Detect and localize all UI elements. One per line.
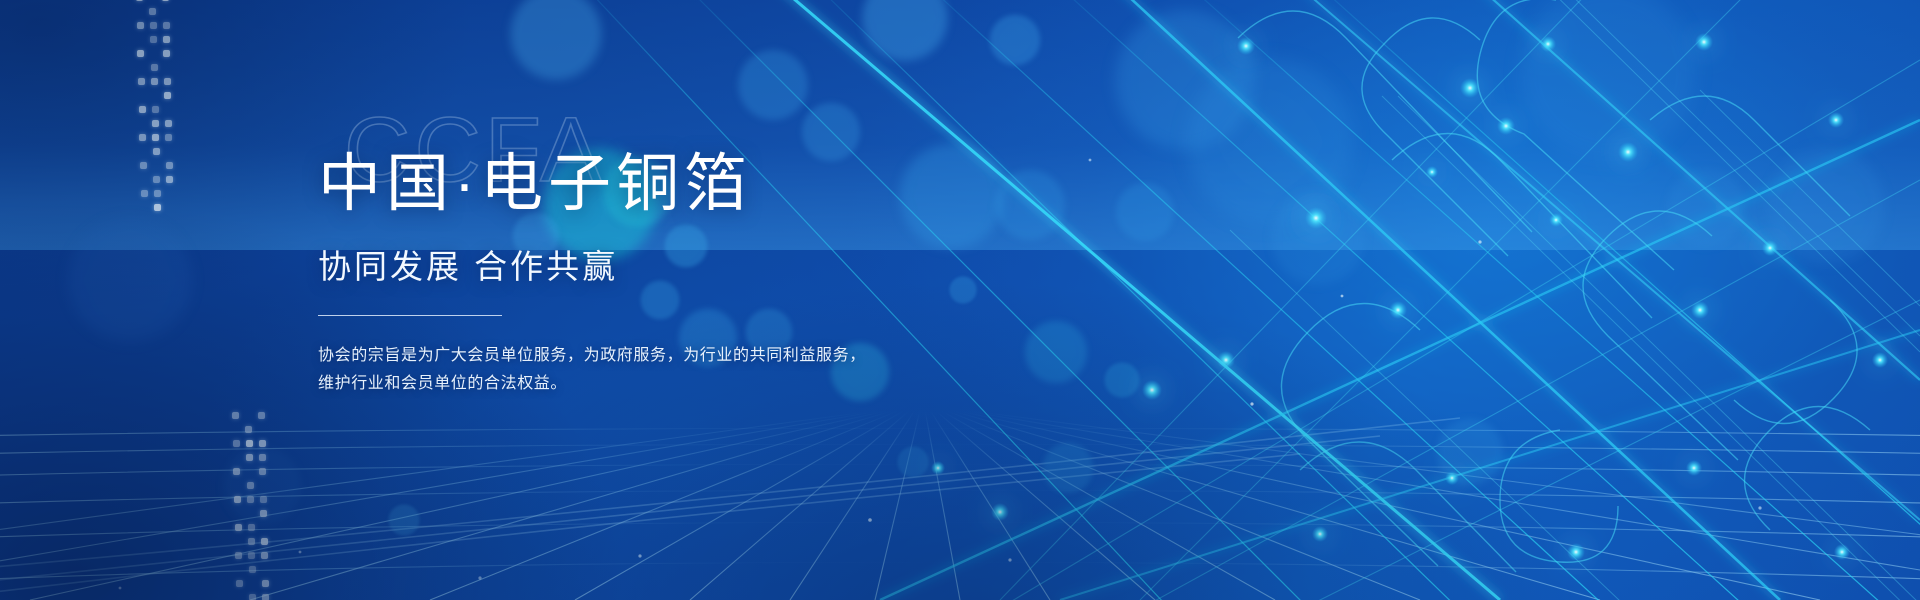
decor-dot — [152, 134, 159, 141]
bokeh-circle — [1766, 146, 1886, 266]
decor-dot — [248, 524, 255, 531]
decor-dot — [152, 106, 159, 113]
decor-dot — [163, 22, 170, 29]
decor-dot — [164, 78, 171, 85]
decor-dot — [246, 440, 253, 447]
decor-dot — [163, 50, 170, 57]
page-description: 协会的宗旨是为广大会员单位服务，为政府服务，为行业的共同利益服务， 维护行业和会… — [318, 342, 938, 397]
decor-dot — [137, 50, 144, 57]
hero-text-block: CCFA 中国·电子铜箔 协同发展 合作共赢 协会的宗旨是为广大会员单位服务，为… — [318, 108, 1078, 397]
bokeh-circle — [1518, 0, 1698, 162]
decor-dot — [140, 162, 147, 169]
decor-dot — [153, 176, 160, 183]
decor-dot — [141, 190, 148, 197]
decor-dot — [153, 148, 160, 155]
decor-dot — [163, 36, 170, 43]
decor-dot — [246, 454, 253, 461]
bokeh-circle — [861, 0, 949, 62]
decor-dot — [151, 78, 158, 85]
decor-dot — [249, 594, 256, 600]
decor-dot — [236, 580, 243, 587]
decor-dot — [259, 440, 266, 447]
decor-dot — [165, 120, 172, 127]
decor-dot — [165, 134, 172, 141]
bokeh-circle — [1104, 362, 1140, 398]
decor-dot — [139, 134, 146, 141]
decor-dot — [259, 468, 266, 475]
page-description-line-1: 协会的宗旨是为广大会员单位服务，为政府服务，为行业的共同利益服务， — [318, 342, 938, 370]
decor-dot — [233, 440, 240, 447]
bokeh-circle — [1270, 190, 1366, 286]
dot-matrix-top — [136, 0, 206, 238]
decor-dot — [247, 482, 254, 489]
decor-dot — [248, 552, 255, 559]
decor-dot — [234, 496, 241, 503]
decor-dot — [247, 496, 254, 503]
bokeh-circle — [989, 14, 1041, 66]
decor-dot — [260, 510, 267, 517]
decor-dot — [258, 412, 265, 419]
page-title: 中国·电子铜箔 — [318, 150, 1078, 218]
decor-dot — [259, 454, 266, 461]
decor-dot — [149, 8, 156, 15]
decor-dot — [150, 22, 157, 29]
decor-dot — [166, 176, 173, 183]
decor-dot — [262, 594, 269, 600]
decor-dot — [151, 64, 158, 71]
decor-dot — [137, 22, 144, 29]
decor-dot — [249, 566, 256, 573]
decor-dot — [152, 120, 159, 127]
bokeh-circle — [509, 0, 603, 81]
decor-dot — [262, 580, 269, 587]
dot-matrix-bottom — [232, 412, 302, 600]
decor-dot — [260, 496, 267, 503]
decor-dot — [154, 204, 161, 211]
decor-dot — [164, 92, 171, 99]
decor-dot — [248, 538, 255, 545]
bokeh-circle — [1666, 168, 1746, 248]
decor-dot — [136, 0, 143, 1]
decor-dot — [162, 0, 169, 1]
bokeh-circle — [1113, 8, 1257, 152]
decor-dot — [233, 468, 240, 475]
decor-dot — [235, 552, 242, 559]
bokeh-circle — [1115, 182, 1175, 242]
page-subtitle: 协同发展 合作共赢 — [318, 249, 1078, 285]
decor-dot — [139, 106, 146, 113]
decor-dot — [138, 78, 145, 85]
bokeh-circle — [1184, 56, 1356, 228]
page-description-line-2: 维护行业和会员单位的合法权益。 — [318, 370, 938, 398]
decor-dot — [150, 36, 157, 43]
decor-dot — [235, 524, 242, 531]
hero-banner: CCFA 中国·电子铜箔 协同发展 合作共赢 协会的宗旨是为广大会员单位服务，为… — [0, 0, 1920, 600]
decor-dot — [261, 538, 268, 545]
decor-dot — [261, 552, 268, 559]
decor-dot — [232, 412, 239, 419]
decor-dot — [166, 162, 173, 169]
title-divider — [318, 315, 502, 316]
decor-dot — [154, 190, 161, 197]
decor-dot — [245, 426, 252, 433]
